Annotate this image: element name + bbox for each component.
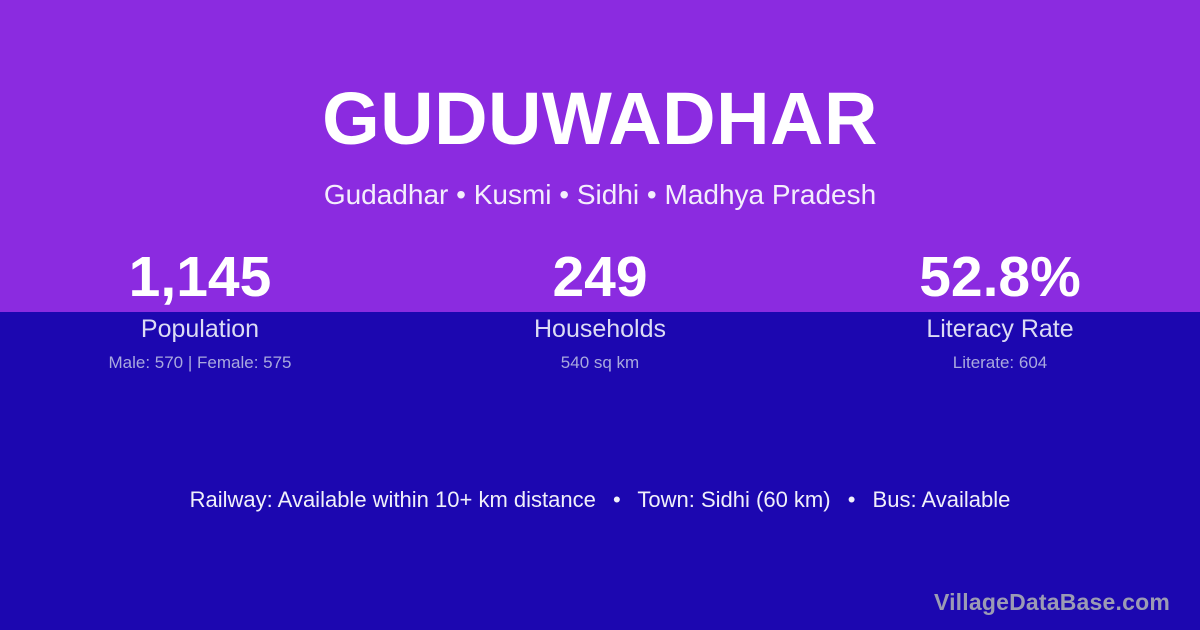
breadcrumb: Gudadhar • Kusmi • Sidhi • Madhya Prades…	[0, 156, 1200, 209]
stat-literacy-rate-value: 52.8%	[800, 243, 1200, 311]
stat-households-value: 249	[400, 243, 800, 311]
stat-households-label: Households	[400, 314, 800, 344]
village-info-card: GUDUWADHAR Gudadhar • Kusmi • Sidhi • Ma…	[0, 0, 1200, 630]
stat-households-sub: 540 sq km	[400, 352, 800, 373]
stats-row: 1,145 Population Male: 570 | Female: 575…	[0, 243, 1200, 373]
amenity-town: Town: Sidhi (60 km)	[637, 487, 830, 512]
card-header: GUDUWADHAR Gudadhar • Kusmi • Sidhi • Ma…	[0, 0, 1200, 232]
stat-households: 249 Households 540 sq km	[400, 243, 800, 373]
stat-population-sub: Male: 570 | Female: 575	[0, 352, 400, 373]
page-title: GUDUWADHAR	[0, 0, 1200, 156]
stat-population-value: 1,145	[0, 243, 400, 311]
amenity-separator-1: •	[602, 485, 632, 515]
amenity-railway: Railway: Available within 10+ km distanc…	[190, 487, 596, 512]
amenity-bus: Bus: Available	[873, 487, 1011, 512]
stat-population: 1,145 Population Male: 570 | Female: 575	[0, 243, 400, 373]
stat-population-label: Population	[0, 314, 400, 344]
stat-literacy-rate: 52.8% Literacy Rate Literate: 604	[800, 243, 1200, 373]
stat-literacy-rate-sub: Literate: 604	[800, 352, 1200, 373]
stat-literacy-rate-label: Literacy Rate	[800, 314, 1200, 344]
site-branding: VillageDataBase.com	[934, 588, 1170, 616]
amenities-line: Railway: Available within 10+ km distanc…	[0, 485, 1200, 515]
amenity-separator-2: •	[837, 485, 867, 515]
